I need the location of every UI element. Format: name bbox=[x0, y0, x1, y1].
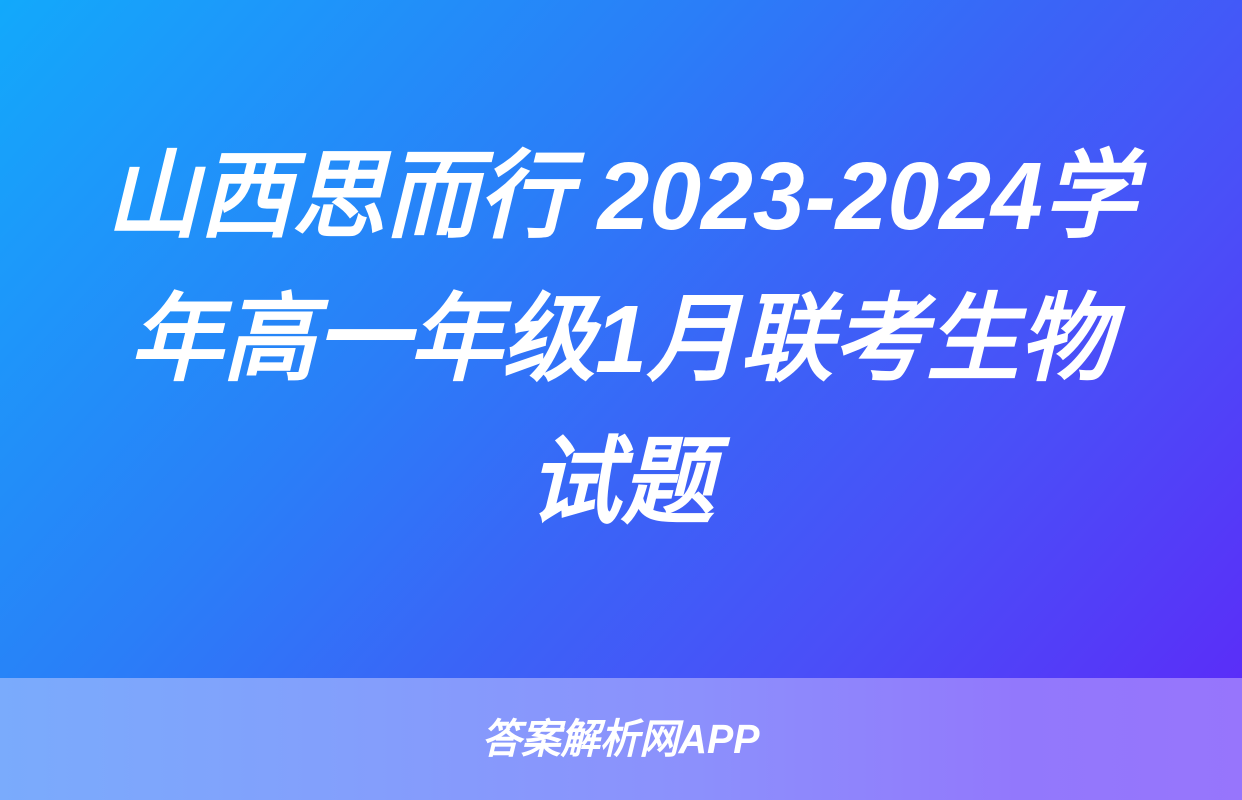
watermark-band: 答案解析网APP bbox=[0, 678, 1242, 800]
watermark-text: 答案解析网APP bbox=[482, 719, 760, 760]
exam-title-card: 山西思而行 2023-2024学年高一年级1月联考生物试题 答案解析网APP bbox=[0, 0, 1242, 800]
page-title: 山西思而行 2023-2024学年高一年级1月联考生物试题 bbox=[88, 125, 1153, 554]
title-block: 山西思而行 2023-2024学年高一年级1月联考生物试题 bbox=[0, 0, 1242, 678]
